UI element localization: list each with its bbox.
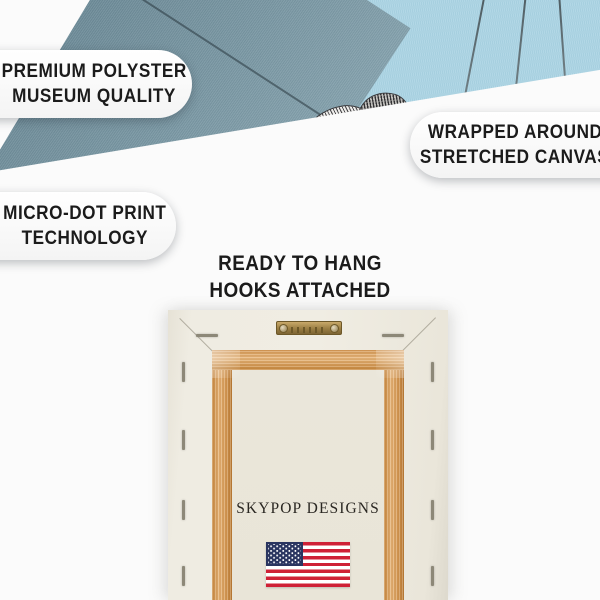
- flag-stars: [268, 544, 301, 564]
- flag-canton: [266, 542, 303, 566]
- staple: [182, 362, 185, 382]
- staple: [182, 430, 185, 450]
- badge-wrapped-line2: STRETCHED CANVAS: [420, 145, 600, 170]
- stretcher-bar-left: [212, 350, 232, 600]
- stretcher-bevel-top-left: [212, 350, 240, 378]
- hanger-screw-right: [330, 324, 339, 333]
- brand-label: SKYPOP DESIGNS: [212, 500, 404, 518]
- badge-polyster-line2: MUSEUM QUALITY: [12, 84, 176, 109]
- caption-line1: READY TO HANG: [30, 250, 570, 277]
- staple: [382, 334, 404, 337]
- ready-to-hang-caption: READY TO HANG HOOKS ATTACHED: [0, 250, 600, 305]
- canvas-inner-back: SKYPOP DESIGNS: [212, 350, 404, 600]
- stretcher-bar-right: [384, 350, 404, 600]
- stretcher-bevel-top-right: [376, 350, 404, 378]
- badge-polyster-line1: PREMIUM POLYSTER: [1, 59, 186, 84]
- caption-line2: HOOKS ATTACHED: [30, 277, 570, 304]
- canvas-back-photo: SKYPOP DESIGNS: [168, 310, 448, 600]
- hanger-teeth: [291, 327, 327, 333]
- infographic-canvas: PREMIUM POLYSTER MUSEUM QUALITY WRAPPED …: [0, 0, 600, 600]
- staple: [182, 566, 185, 586]
- staple: [431, 362, 434, 382]
- staple: [431, 566, 434, 586]
- badge-premium-polyster: PREMIUM POLYSTER MUSEUM QUALITY: [0, 50, 192, 118]
- hanger-screw-left: [279, 324, 288, 333]
- badge-wrapped-around: WRAPPED AROUND STRETCHED CANVAS: [410, 112, 600, 178]
- usa-flag-icon: [266, 542, 350, 587]
- staple: [431, 430, 434, 450]
- canvas-back-panel: SKYPOP DESIGNS: [168, 310, 448, 600]
- staple: [182, 500, 185, 520]
- staple: [431, 500, 434, 520]
- sawtooth-hanger: [276, 321, 342, 335]
- badge-wrapped-line1: WRAPPED AROUND: [428, 120, 600, 145]
- badge-microdot-line2: TECHNOLOGY: [22, 226, 148, 251]
- badge-microdot-line1: MICRO-DOT PRINT: [3, 201, 166, 226]
- staple: [196, 334, 218, 337]
